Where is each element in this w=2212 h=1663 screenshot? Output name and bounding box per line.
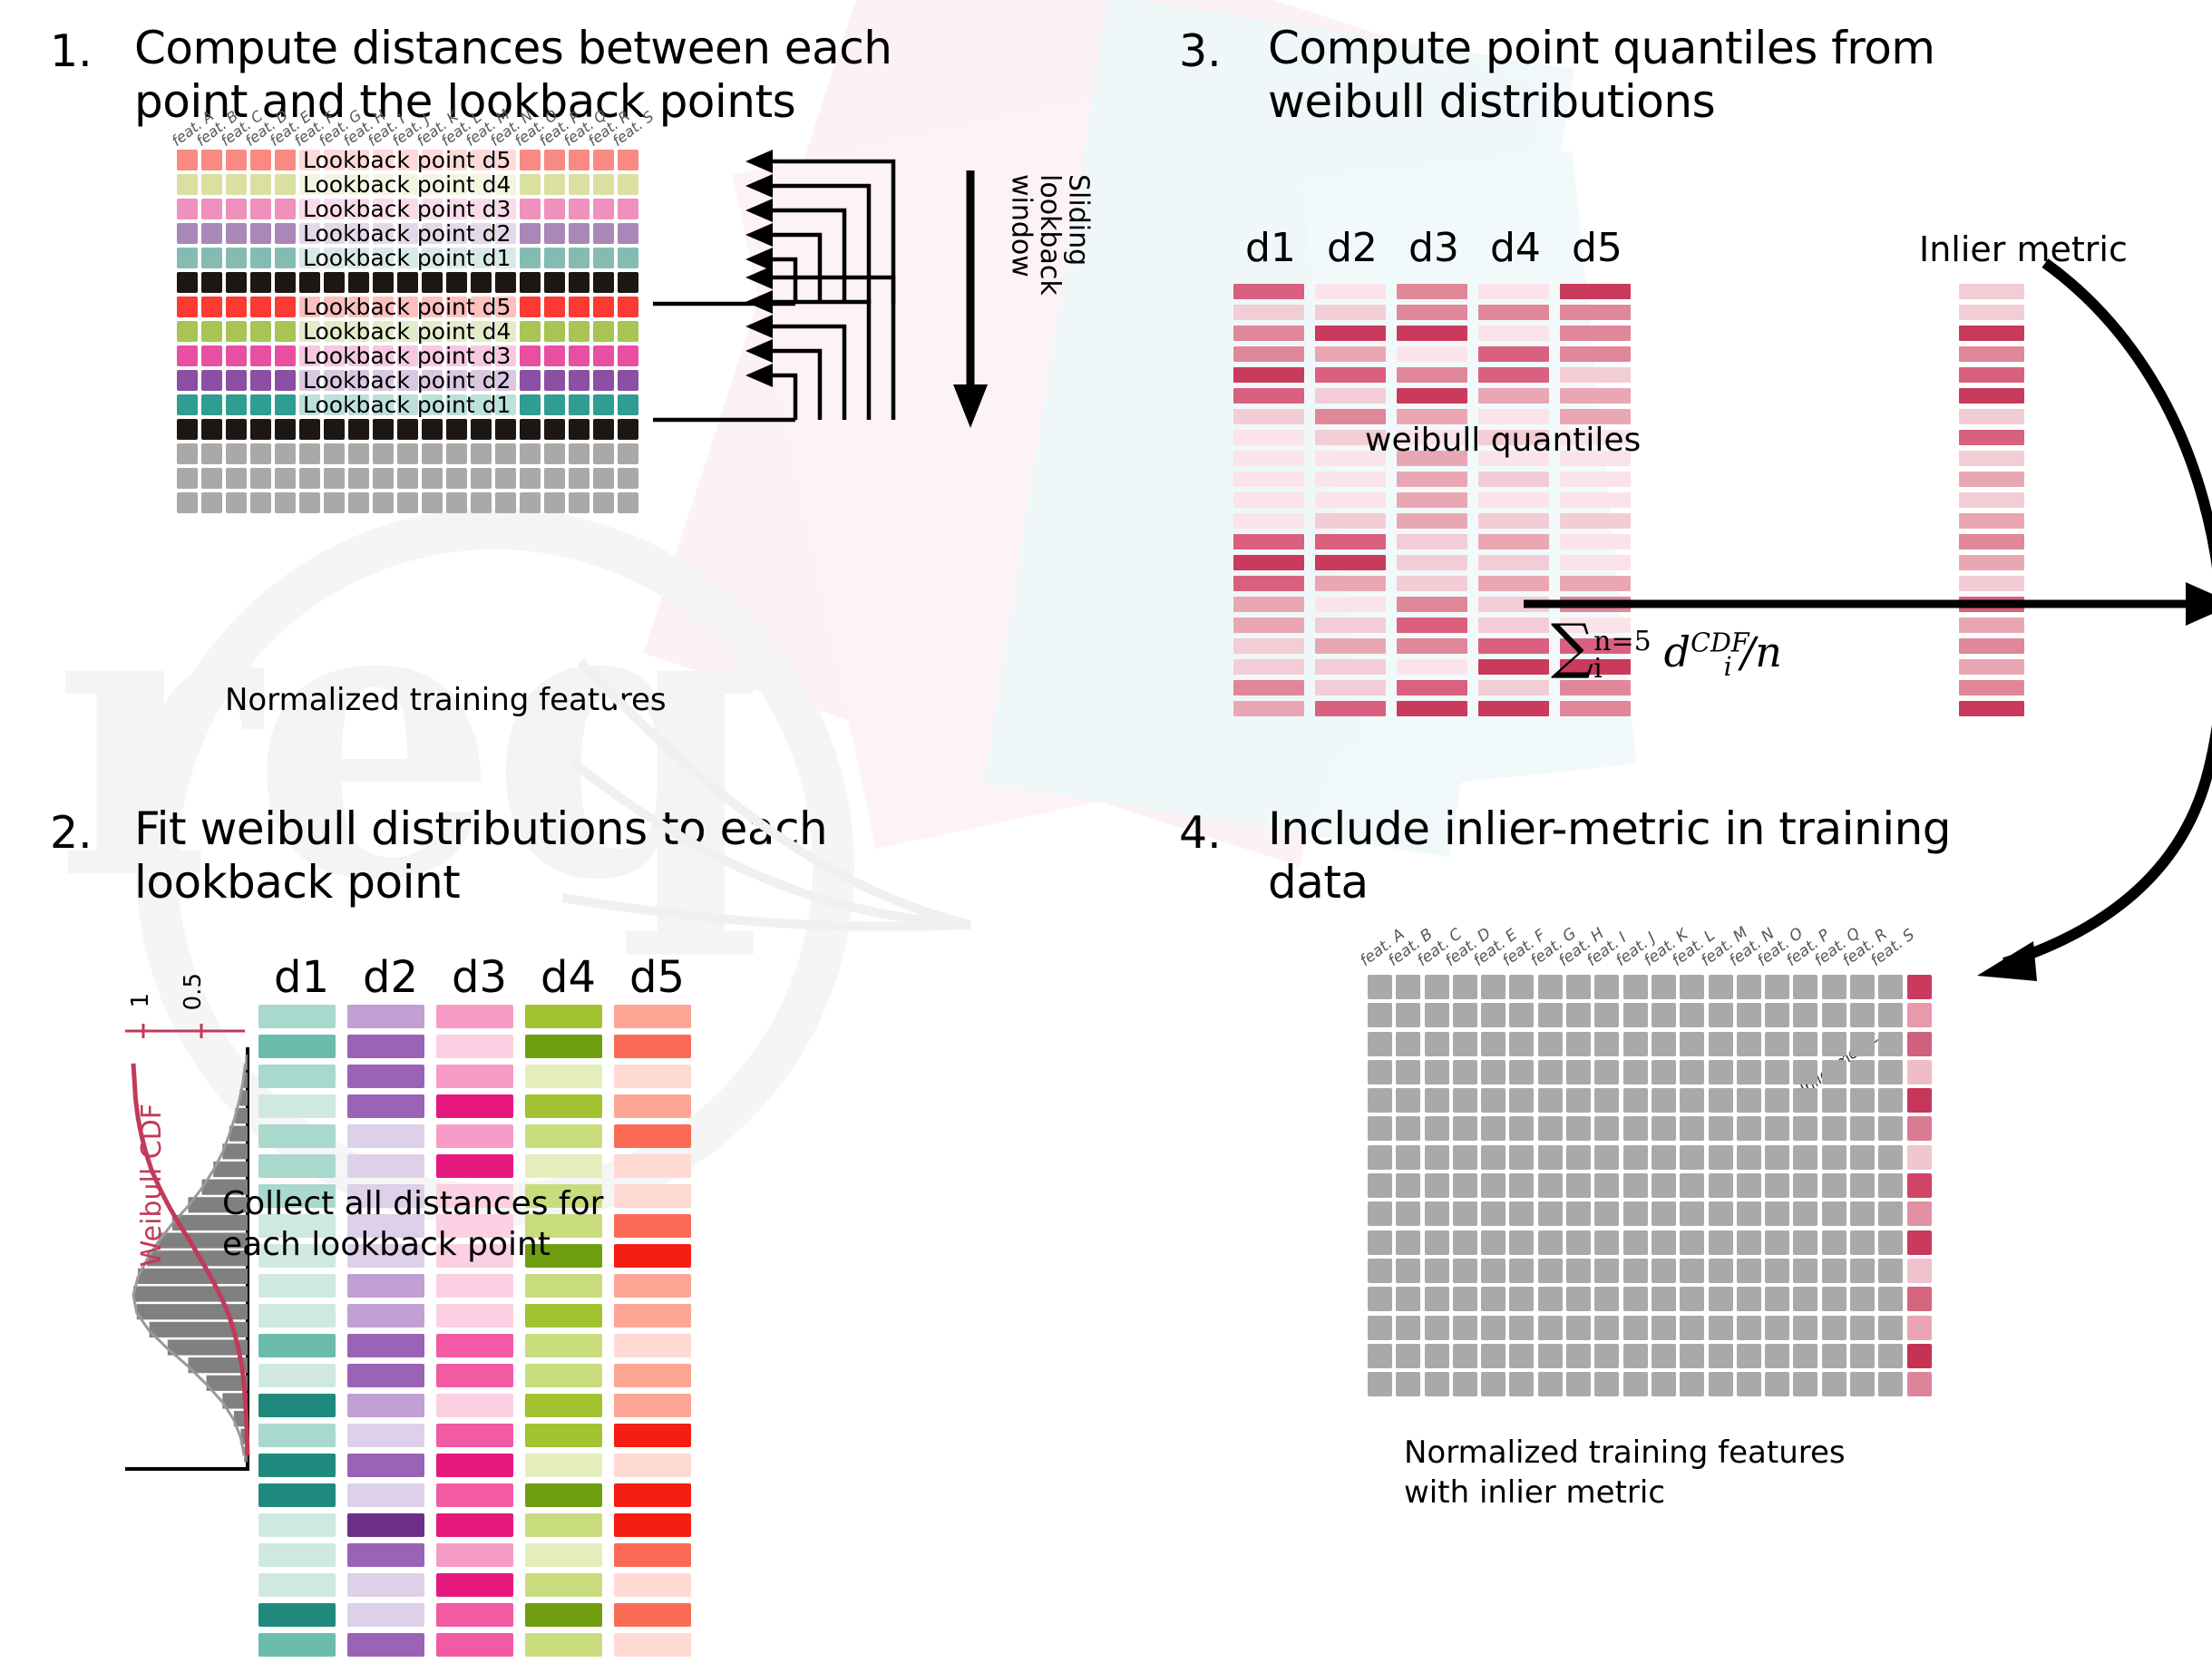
distance-bar — [258, 1543, 336, 1567]
training-feature-cell — [1793, 1173, 1817, 1198]
training-feature-cell — [1538, 1372, 1563, 1396]
feature-cell — [373, 468, 394, 489]
sliding-window-label: Sliding lookback window — [1007, 174, 1093, 296]
training-feature-cell — [1481, 1287, 1506, 1311]
distance-bar — [525, 1094, 602, 1118]
distance-bar — [347, 1274, 424, 1298]
training-feature-cell — [1594, 1201, 1619, 1226]
quantile-bar — [1315, 576, 1386, 591]
training-feature-cell — [1680, 1344, 1704, 1368]
training-feature-cell — [1566, 1116, 1591, 1141]
distance-bar — [258, 1394, 336, 1417]
training-feature-cell — [1850, 1344, 1875, 1368]
training-feature-cell — [1425, 1088, 1449, 1113]
training-feature-cell — [1594, 1088, 1619, 1113]
distance-bar — [614, 1124, 691, 1148]
feature-cell — [275, 199, 296, 219]
training-feature-row — [1368, 1032, 1935, 1060]
training-feature-cell — [1878, 1003, 1903, 1027]
training-feature-cell — [1481, 1060, 1506, 1084]
training-feature-cell — [1652, 1173, 1676, 1198]
feature-cell — [569, 272, 590, 293]
training-feature-cell — [1737, 1344, 1761, 1368]
feature-cell — [569, 370, 590, 391]
training-feature-cell — [1793, 1372, 1817, 1396]
quantile-bar — [1478, 326, 1549, 341]
training-feature-cell — [1878, 1372, 1903, 1396]
feature-cell — [201, 223, 222, 244]
distance-bar — [258, 1094, 336, 1118]
distance-bar — [347, 1154, 424, 1178]
feature-cell — [520, 468, 541, 489]
distance-bar — [347, 1035, 424, 1058]
training-feature-cell — [1793, 975, 1817, 999]
quantile-bar — [1560, 305, 1631, 320]
distance-bar — [614, 1244, 691, 1268]
training-feature-cell — [1765, 1287, 1789, 1311]
quantile-bar — [1233, 513, 1304, 529]
formula-lower: i — [1593, 656, 1652, 683]
training-feature-cell — [1850, 1145, 1875, 1170]
feature-cell — [250, 199, 271, 219]
distance-column-d5 — [614, 1005, 691, 1663]
training-feature-cell — [1453, 1003, 1477, 1027]
training-feature-cell — [1680, 1060, 1704, 1084]
training-feature-cell — [1765, 1060, 1789, 1084]
quantile-bar — [1560, 326, 1631, 341]
training-feature-cell — [1509, 1145, 1534, 1170]
quantile-bar — [1315, 618, 1386, 633]
quantile-bar — [1397, 534, 1467, 549]
training-feature-cell — [1765, 1032, 1789, 1056]
quantile-bar — [1315, 284, 1386, 299]
feature-cell — [275, 223, 296, 244]
training-feature-cell — [1453, 1032, 1477, 1056]
step-4-panel: 4. Include inlier-metric in training dat… — [1161, 780, 2212, 1538]
weibull-quantiles-overlay-label: weibull quantiles — [1365, 422, 1641, 459]
training-feature-row — [1368, 1060, 1935, 1088]
feature-cell — [520, 248, 541, 268]
feature-cell — [520, 492, 541, 513]
inlier-metric-cell — [1907, 1088, 1932, 1113]
training-feature-cell — [1623, 1372, 1648, 1396]
training-feature-cell — [1509, 1032, 1534, 1056]
training-feature-cell — [1709, 1003, 1733, 1027]
distance-bar — [436, 1035, 513, 1058]
training-feature-cell — [1396, 1032, 1420, 1056]
quantile-bar — [1560, 346, 1631, 362]
distance-bar — [258, 1304, 336, 1327]
training-feature-cell — [1425, 1060, 1449, 1084]
training-feature-cell — [1737, 1316, 1761, 1340]
quantile-column-label-d3: d3 — [1408, 225, 1459, 271]
training-feature-row — [1368, 1173, 1935, 1201]
quantile-bar — [1397, 555, 1467, 570]
feature-cell — [324, 419, 345, 440]
quantile-bar — [1233, 597, 1304, 612]
formula-tail: /n — [1741, 627, 1782, 676]
training-feature-cell — [1850, 975, 1875, 999]
training-feature-cell — [1793, 1032, 1817, 1056]
feature-cell — [569, 297, 590, 317]
training-feature-cell — [1425, 1316, 1449, 1340]
histogram-bar — [133, 1286, 248, 1301]
distance-bar — [347, 1094, 424, 1118]
quantile-bar — [1560, 701, 1631, 716]
quantile-column-label-d2: d2 — [1327, 225, 1378, 271]
feature-cell — [569, 468, 590, 489]
feature-cell — [324, 492, 345, 513]
training-feature-cell — [1566, 1032, 1591, 1056]
feature-cell — [201, 150, 222, 170]
feature-cell — [544, 419, 565, 440]
training-feature-cell — [1623, 1088, 1648, 1113]
quantile-bar — [1315, 659, 1386, 675]
feature-cell — [373, 492, 394, 513]
inlier-metric-cell — [1907, 1173, 1932, 1198]
step-1-number: 1. — [50, 25, 93, 77]
feature-cell — [446, 419, 467, 440]
feature-cell — [275, 321, 296, 342]
training-feature-cell — [1368, 975, 1392, 999]
training-feature-cell — [1594, 1344, 1619, 1368]
distance-bar — [436, 1065, 513, 1088]
training-feature-cell — [1538, 1201, 1563, 1226]
distance-bar — [347, 1513, 424, 1537]
training-feature-cell — [1850, 1230, 1875, 1255]
feature-cell — [250, 321, 271, 342]
distance-bar — [436, 1454, 513, 1477]
training-feature-cell — [1623, 1230, 1648, 1255]
lookback-point-row-label: Lookback point d3 — [301, 343, 512, 369]
feature-cell — [226, 370, 247, 391]
feature-cell — [250, 345, 271, 366]
feature-cell — [275, 370, 296, 391]
training-feature-cell — [1737, 1088, 1761, 1113]
training-feature-cell — [1396, 1003, 1420, 1027]
training-feature-cell — [1453, 1060, 1477, 1084]
feature-cell — [226, 443, 247, 464]
feature-cell — [177, 321, 198, 342]
training-feature-cell — [1709, 1201, 1733, 1226]
training-feature-cell — [1566, 1145, 1591, 1170]
feature-cell — [422, 443, 443, 464]
lookback-point-row-label: Lookback point d2 — [301, 220, 512, 247]
feature-cell — [177, 272, 198, 293]
distance-bar — [258, 1005, 336, 1028]
training-feature-cell — [1425, 1173, 1449, 1198]
step-4-number: 4. — [1179, 807, 1222, 859]
feature-cell — [348, 419, 369, 440]
lookback-point-row-label: Lookback point d5 — [301, 294, 512, 320]
feature-cell — [250, 370, 271, 391]
feature-cell — [201, 394, 222, 415]
feature-cell — [275, 174, 296, 195]
distance-bar — [347, 1334, 424, 1357]
training-feature-cell — [1481, 1116, 1506, 1141]
feature-cell — [593, 443, 614, 464]
feature-cell — [250, 248, 271, 268]
feature-cell — [250, 443, 271, 464]
quantile-column-label-d1: d1 — [1245, 225, 1296, 271]
distance-bar — [614, 1424, 691, 1447]
training-feature-cell — [1481, 1259, 1506, 1283]
training-feature-cell — [1594, 1116, 1619, 1141]
step-3-title: Compute point quantiles from weibull dis… — [1268, 22, 2175, 128]
training-feature-cell — [1509, 1088, 1534, 1113]
quantile-bar — [1315, 326, 1386, 341]
quantile-bar — [1397, 284, 1467, 299]
training-feature-cell — [1623, 975, 1648, 999]
inlier-metric-cell — [1907, 1032, 1932, 1056]
training-feature-cell — [1765, 1145, 1789, 1170]
training-feature-cell — [1737, 1230, 1761, 1255]
quantile-bar — [1478, 388, 1549, 404]
quantile-bar — [1397, 492, 1467, 508]
feature-cell — [544, 370, 565, 391]
training-feature-cell — [1538, 1116, 1563, 1141]
feature-cell — [569, 419, 590, 440]
training-feature-cell — [1878, 1116, 1903, 1141]
training-feature-cell — [1765, 1344, 1789, 1368]
training-feature-cell — [1737, 1116, 1761, 1141]
quantile-column-label-d5: d5 — [1572, 225, 1622, 271]
training-feature-cell — [1566, 1088, 1591, 1113]
distance-bar — [258, 1035, 336, 1058]
training-feature-cell — [1453, 1201, 1477, 1226]
feature-cell — [593, 321, 614, 342]
training-feature-cell — [1709, 975, 1733, 999]
training-feature-cell — [1709, 1145, 1733, 1170]
training-feature-row — [1368, 1344, 1935, 1372]
quantile-bar — [1397, 305, 1467, 320]
training-feature-cell — [1737, 1032, 1761, 1056]
distance-bar — [525, 1633, 602, 1657]
distance-bar — [525, 1603, 602, 1627]
distance-bar — [436, 1154, 513, 1178]
training-feature-cell — [1737, 1173, 1761, 1198]
quantile-bar — [1397, 472, 1467, 487]
step-2-panel: 2. Fit weibull distributions to each loo… — [0, 780, 1106, 1538]
training-feature-cell — [1652, 1259, 1676, 1283]
distance-bar — [614, 1573, 691, 1597]
quantile-bar — [1233, 472, 1304, 487]
training-feature-cell — [1425, 1145, 1449, 1170]
training-feature-cell — [1878, 1145, 1903, 1170]
quantile-bar — [1560, 367, 1631, 383]
feature-cell — [226, 174, 247, 195]
distance-bar — [258, 1513, 336, 1537]
training-feature-cell — [1425, 975, 1449, 999]
training-feature-cell — [1652, 1145, 1676, 1170]
distance-column-label-d3: d3 — [452, 952, 507, 1003]
training-feature-cell — [1566, 1344, 1591, 1368]
training-feature-cell — [1566, 1003, 1591, 1027]
training-feature-cell — [1453, 1344, 1477, 1368]
distance-bar — [258, 1124, 336, 1148]
quantile-bar — [1315, 305, 1386, 320]
training-feature-cell — [1765, 1316, 1789, 1340]
training-feature-cell — [1453, 1372, 1477, 1396]
training-feature-row — [1368, 1230, 1935, 1259]
training-feature-cell — [1623, 1003, 1648, 1027]
quantile-bar — [1478, 555, 1549, 570]
training-feature-cell — [1680, 975, 1704, 999]
training-feature-cell — [1680, 1372, 1704, 1396]
training-feature-cell — [1652, 1088, 1676, 1113]
feature-cell — [422, 272, 443, 293]
distance-bar — [614, 1394, 691, 1417]
feature-grid-row — [177, 419, 642, 443]
feature-cell — [177, 223, 198, 244]
distance-bar — [258, 1633, 336, 1657]
feature-cell — [544, 321, 565, 342]
quantile-bar — [1478, 284, 1549, 299]
training-feature-cell — [1594, 1060, 1619, 1084]
training-feature-cell — [1822, 1201, 1847, 1226]
training-feature-cell — [1481, 1201, 1506, 1226]
training-feature-cell — [1368, 1032, 1392, 1056]
feature-cell — [299, 419, 320, 440]
training-feature-cell — [1396, 1259, 1420, 1283]
training-feature-cell — [1566, 1259, 1591, 1283]
training-feature-cell — [1709, 1116, 1733, 1141]
training-feature-cell — [1680, 1201, 1704, 1226]
training-feature-cell — [1709, 1287, 1733, 1311]
quantile-bar — [1233, 326, 1304, 341]
feature-cell — [544, 174, 565, 195]
training-feature-cell — [1481, 1230, 1506, 1255]
training-feature-cell — [1652, 1116, 1676, 1141]
formula-sup: CDF — [1691, 628, 1749, 658]
quantile-bar — [1233, 346, 1304, 362]
training-feature-cell — [1822, 1230, 1847, 1255]
training-feature-cell — [1509, 1060, 1534, 1084]
quantile-bar — [1478, 367, 1549, 383]
training-feature-cell — [1368, 1287, 1392, 1311]
distance-bar — [525, 1364, 602, 1387]
distance-bar — [614, 1274, 691, 1298]
quantile-bar — [1233, 701, 1304, 716]
feature-cell — [201, 468, 222, 489]
feature-cell — [544, 345, 565, 366]
training-feature-cell — [1878, 1201, 1903, 1226]
training-feature-cell — [1509, 1344, 1534, 1368]
feature-cell — [397, 468, 418, 489]
inlier-metric-cell — [1907, 1259, 1932, 1283]
feature-cell — [250, 150, 271, 170]
training-feature-cell — [1594, 1316, 1619, 1340]
feature-cell — [275, 272, 296, 293]
training-feature-cell — [1793, 1201, 1817, 1226]
distance-bar — [525, 1394, 602, 1417]
feature-cell — [177, 492, 198, 513]
training-feature-cell — [1623, 1116, 1648, 1141]
distance-bar — [347, 1603, 424, 1627]
distance-bar — [436, 1334, 513, 1357]
quantile-bar — [1478, 680, 1549, 695]
training-feature-cell — [1709, 1088, 1733, 1113]
quantile-bar — [1233, 534, 1304, 549]
training-feature-cell — [1453, 1088, 1477, 1113]
quantile-bar — [1478, 472, 1549, 487]
training-feature-cell — [1481, 1145, 1506, 1170]
training-feature-cell — [1538, 1316, 1563, 1340]
distance-bar — [614, 1304, 691, 1327]
feature-cell — [275, 443, 296, 464]
feature-cell — [177, 199, 198, 219]
training-feature-row — [1368, 1003, 1935, 1031]
feature-cell — [324, 272, 345, 293]
training-feature-cell — [1538, 1259, 1563, 1283]
training-feature-cell — [1623, 1201, 1648, 1226]
distance-bar — [436, 1603, 513, 1627]
quantile-bar — [1397, 367, 1467, 383]
feature-cell — [520, 223, 541, 244]
quantile-bar — [1478, 534, 1549, 549]
distance-bar — [436, 1124, 513, 1148]
feature-cell — [250, 272, 271, 293]
distance-bar — [436, 1573, 513, 1597]
feature-cell — [471, 419, 492, 440]
distance-column-label-d1: d1 — [274, 952, 329, 1003]
quantile-bar — [1478, 701, 1549, 716]
training-feature-cell — [1709, 1316, 1733, 1340]
training-feature-row — [1368, 975, 1935, 1003]
feature-cell — [275, 492, 296, 513]
training-feature-cell — [1793, 1230, 1817, 1255]
training-feature-cell — [1538, 1145, 1563, 1170]
feature-grid-row — [177, 272, 642, 297]
training-feature-cell — [1822, 1032, 1847, 1056]
training-feature-cell — [1368, 1003, 1392, 1027]
quantile-bar — [1233, 388, 1304, 404]
feature-grid-row — [177, 443, 642, 468]
distance-bar — [614, 1184, 691, 1208]
feature-cell — [226, 345, 247, 366]
distance-bar — [614, 1364, 691, 1387]
feature-cell — [593, 345, 614, 366]
lookback-point-row-label: Lookback point d4 — [301, 171, 512, 198]
feature-cell — [446, 272, 467, 293]
training-feature-cell — [1396, 1145, 1420, 1170]
training-feature-cell — [1793, 1088, 1817, 1113]
feature-cell — [471, 468, 492, 489]
training-feature-cell — [1878, 1088, 1903, 1113]
feature-cell — [593, 272, 614, 293]
feature-cell — [593, 492, 614, 513]
training-feature-cell — [1737, 1145, 1761, 1170]
feature-cell — [275, 394, 296, 415]
feature-cell — [520, 419, 541, 440]
training-feature-cell — [1850, 1088, 1875, 1113]
training-feature-cell — [1368, 1173, 1392, 1198]
distance-bar — [347, 1005, 424, 1028]
quantile-bar — [1233, 430, 1304, 445]
training-feature-cell — [1453, 1316, 1477, 1340]
histogram-bar — [138, 1269, 248, 1284]
quantile-bar — [1397, 618, 1467, 633]
quantile-bar — [1397, 388, 1467, 404]
quantile-bar — [1315, 388, 1386, 404]
training-feature-cell — [1680, 1145, 1704, 1170]
feature-cell — [201, 272, 222, 293]
training-feature-cell — [1878, 1344, 1903, 1368]
feature-cell — [544, 297, 565, 317]
feature-cell — [299, 272, 320, 293]
training-feature-cell — [1765, 1230, 1789, 1255]
training-feature-cell — [1509, 1259, 1534, 1283]
